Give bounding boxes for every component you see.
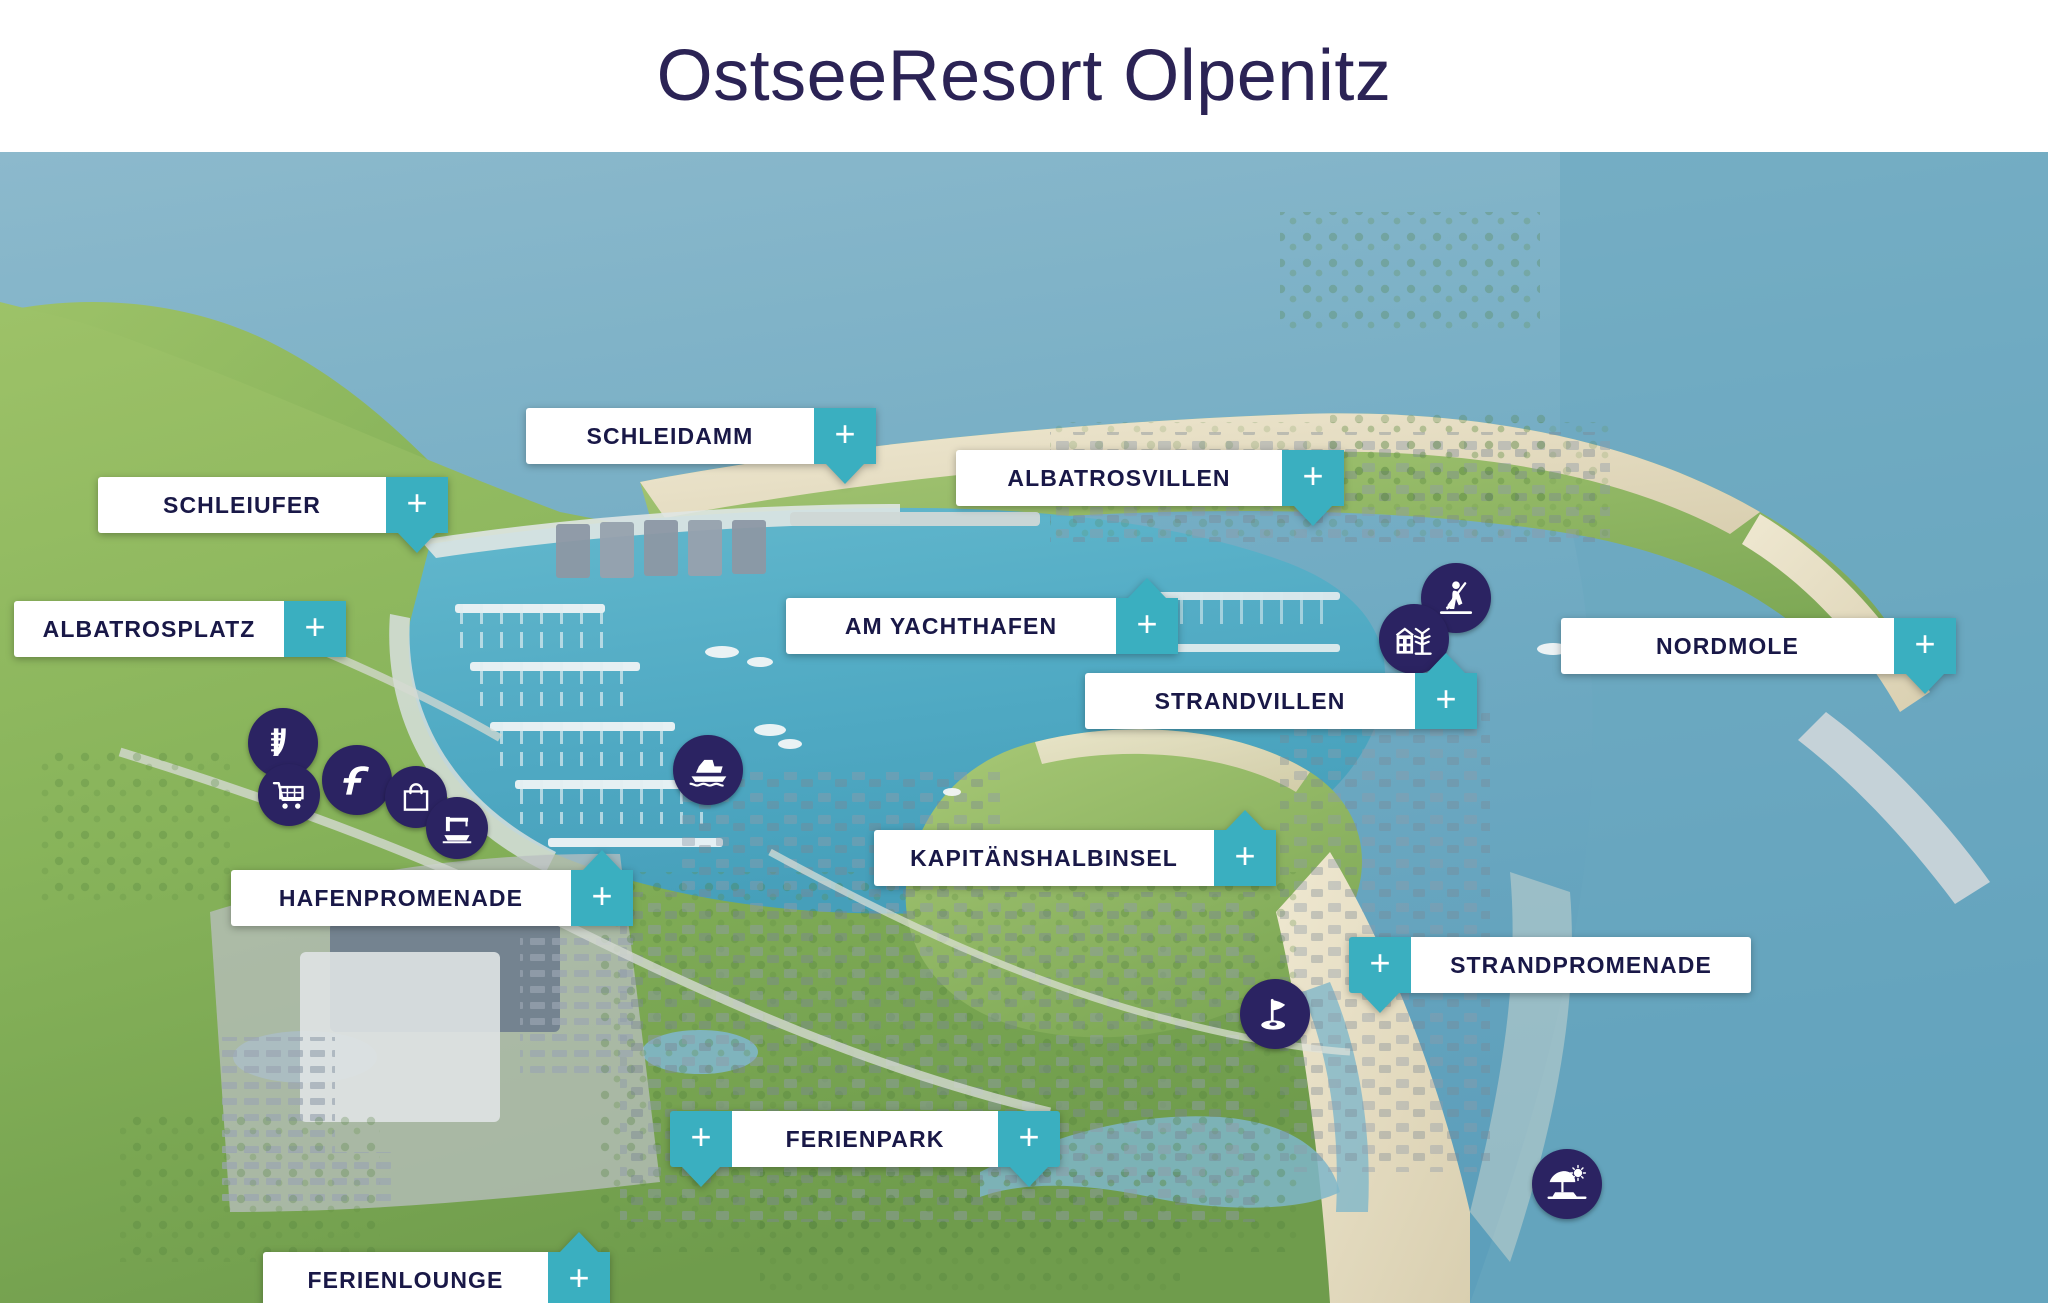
expand-plus-button[interactable]: +: [1116, 598, 1178, 654]
expand-plus-button[interactable]: +: [1894, 618, 1956, 674]
chip-label-box: SCHLEIUFER: [98, 477, 386, 533]
chip-label-text: STRANDVILLEN: [1155, 690, 1346, 713]
chip-label-text: HAFENPROMENADE: [279, 887, 523, 910]
chip-label-box: NORDMOLE: [1561, 618, 1894, 674]
expand-plus-button[interactable]: +: [1214, 830, 1276, 886]
chip-label-text: FERIENLOUNGE: [308, 1269, 504, 1292]
chip-label-box: SCHLEIDAMM: [526, 408, 814, 464]
map-label-ferienpark[interactable]: + FERIENPARK +: [670, 1111, 1060, 1167]
plus-icon: +: [1914, 626, 1935, 662]
map-label-am-yachthafen[interactable]: AM YACHTHAFEN +: [786, 598, 1178, 654]
expand-plus-button[interactable]: +: [571, 870, 633, 926]
expand-plus-button[interactable]: +: [284, 601, 346, 657]
chip-label-box: AM YACHTHAFEN: [786, 598, 1116, 654]
plus-icon: +: [1136, 606, 1157, 642]
chip-label-box: ALBATROSPLATZ: [14, 601, 284, 657]
motorboat-icon[interactable]: [673, 735, 743, 805]
expand-plus-button[interactable]: +: [1282, 450, 1344, 506]
chip-label-box: STRANDPROMENADE: [1411, 937, 1751, 993]
expand-plus-button[interactable]: +: [1349, 937, 1411, 993]
plus-icon: +: [1234, 838, 1255, 874]
map-label-strandvillen[interactable]: STRANDVILLEN +: [1085, 673, 1477, 729]
chip-label-text: SCHLEIUFER: [163, 494, 321, 517]
chip-label-text: AM YACHTHAFEN: [845, 615, 1057, 638]
plus-icon: +: [568, 1260, 589, 1296]
shopping-cart-icon[interactable]: [258, 764, 320, 826]
resort-aerial-map: SCHLEIDAMM + SCHLEIUFER + ALBATROSVILLEN…: [0, 152, 2048, 1303]
resort-map-page: OstseeResort Olpenitz: [0, 0, 2048, 1303]
map-label-albatrosplatz[interactable]: ALBATROSPLATZ +: [14, 601, 346, 657]
chip-label-box: FERIENLOUNGE: [263, 1252, 548, 1303]
golf-flag-icon[interactable]: [1240, 979, 1310, 1049]
boat-crane-icon[interactable]: [426, 797, 488, 859]
plus-icon: +: [1018, 1119, 1039, 1155]
map-label-ferienlounge[interactable]: FERIENLOUNGE +: [263, 1252, 610, 1303]
chip-label-box: FERIENPARK: [732, 1111, 998, 1167]
map-label-hafenpromenade[interactable]: HAFENPROMENADE +: [231, 870, 633, 926]
expand-plus-button[interactable]: +: [814, 408, 876, 464]
plus-icon: +: [406, 485, 427, 521]
plus-icon: +: [1435, 681, 1456, 717]
chip-label-box: HAFENPROMENADE: [231, 870, 571, 926]
expand-plus-button[interactable]: +: [548, 1252, 610, 1303]
map-label-nordmole[interactable]: NORDMOLE +: [1561, 618, 1956, 674]
chip-label-text: ALBATROSVILLEN: [1007, 467, 1230, 490]
map-label-albatrosvillen[interactable]: ALBATROSVILLEN +: [956, 450, 1344, 506]
chip-label-text: KAPITÄNSHALBINSEL: [910, 847, 1178, 870]
chip-label-text: SCHLEIDAMM: [587, 425, 754, 448]
beach-umbrella-icon[interactable]: [1532, 1149, 1602, 1219]
plus-icon: +: [690, 1119, 711, 1155]
map-label-kapitaenshalbinsel[interactable]: KAPITÄNSHALBINSEL +: [874, 830, 1276, 886]
chip-label-box: STRANDVILLEN: [1085, 673, 1415, 729]
expand-plus-button[interactable]: +: [1415, 673, 1477, 729]
plus-icon: +: [834, 416, 855, 452]
page-title: OstseeResort Olpenitz: [657, 40, 1392, 112]
map-label-schleiufer[interactable]: SCHLEIUFER +: [98, 477, 448, 533]
f-logo-icon[interactable]: [322, 745, 392, 815]
map-label-strandpromenade[interactable]: + STRANDPROMENADE: [1349, 937, 1751, 993]
map-label-schleidamm[interactable]: SCHLEIDAMM +: [526, 408, 876, 464]
plus-icon: +: [1369, 945, 1390, 981]
chip-label-box: ALBATROSVILLEN: [956, 450, 1282, 506]
expand-plus-button[interactable]: +: [386, 477, 448, 533]
expand-plus-button-left[interactable]: +: [670, 1111, 732, 1167]
chip-label-box: KAPITÄNSHALBINSEL: [874, 830, 1214, 886]
plus-icon: +: [591, 878, 612, 914]
expand-plus-button-right[interactable]: +: [998, 1111, 1060, 1167]
chip-label-text: NORDMOLE: [1656, 635, 1799, 658]
plus-icon: +: [304, 609, 325, 645]
chip-label-text: FERIENPARK: [786, 1128, 945, 1151]
chip-label-text: STRANDPROMENADE: [1450, 954, 1712, 977]
plus-icon: +: [1302, 458, 1323, 494]
chip-label-text: ALBATROSPLATZ: [43, 618, 256, 641]
title-bar: OstseeResort Olpenitz: [0, 0, 2048, 152]
